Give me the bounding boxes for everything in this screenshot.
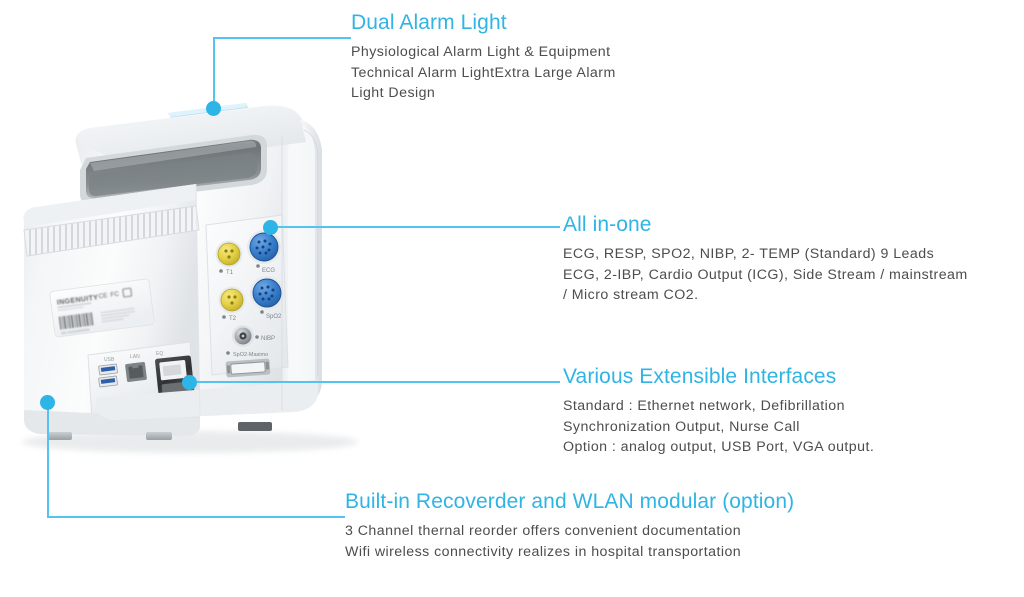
- callout-body-line: ECG, 2-IBP, Cardio Output (ICG), Side St…: [563, 265, 968, 286]
- callout-body-line: / Micro stream CO2.: [563, 285, 968, 306]
- svg-text:SpO2: SpO2: [266, 314, 282, 320]
- leader-line-interfaces: [189, 381, 560, 383]
- foot-left: [48, 432, 72, 440]
- callout-body-various-extensible-interfaces: Standard : Ethernet network, Defibrillat…: [563, 396, 874, 458]
- connector-panel: T1 ECG: [206, 215, 288, 378]
- callout-body-built-in-recorder-wlan: 3 Channel thernal reorder offers conveni…: [345, 521, 794, 562]
- svg-text:LAN: LAN: [130, 354, 140, 360]
- svg-text:EQ: EQ: [156, 351, 163, 357]
- port-ethernet: [125, 362, 147, 382]
- svg-text:T1: T1: [226, 270, 234, 276]
- callout-body-line: Physiological Alarm Light & Equipment: [351, 42, 616, 63]
- callout-body-line: 3 Channel thernal reorder offers conveni…: [345, 521, 794, 542]
- callout-body-line: Standard : Ethernet network, Defibrillat…: [563, 396, 874, 417]
- svg-text:FC: FC: [110, 291, 120, 299]
- leader-dot-wlan: [40, 395, 55, 410]
- svg-text:NIBP: NIBP: [261, 336, 275, 342]
- svg-text:CE: CE: [98, 292, 109, 300]
- leader-dot-alarm: [206, 101, 221, 116]
- feature-callout-page: INGENUITY CE FC: [0, 0, 1024, 597]
- callout-body-line: ECG, RESP, SPO2, NIBP, 2- TEMP (Standard…: [563, 244, 968, 265]
- callout-title-various-extensible-interfaces: Various Extensible Interfaces: [563, 364, 874, 389]
- callout-body-all-in-one: ECG, RESP, SPO2, NIBP, 2- TEMP (Standard…: [563, 244, 968, 306]
- callout-body-line: Option : analog output, USB Port, VGA ou…: [563, 437, 874, 458]
- port-temp1: [216, 241, 243, 268]
- svg-text:SpO2-Masimo: SpO2-Masimo: [233, 352, 268, 358]
- callout-body-line: Technical Alarm LightExtra Large Alarm: [351, 63, 616, 84]
- port-ecg: [247, 230, 281, 264]
- port-dsub-masimo: [225, 358, 270, 377]
- svg-text:ECG: ECG: [262, 268, 275, 274]
- leader-line-wlan-vertical: [47, 402, 49, 517]
- leader-line-alarm-vertical: [213, 38, 215, 110]
- leader-dot-allinone: [263, 220, 278, 235]
- svg-text:T2: T2: [229, 316, 237, 322]
- callout-body-line: Light Design: [351, 83, 616, 104]
- callout-body-dual-alarm-light: Physiological Alarm Light & Equipment Te…: [351, 42, 616, 104]
- callout-body-line: Synchronization Output, Nurse Call: [563, 417, 874, 438]
- foot-mid: [146, 432, 172, 440]
- foot-right: [238, 422, 272, 431]
- leader-line-alarm-horizontal: [213, 37, 351, 39]
- leader-dot-interfaces: [182, 375, 197, 390]
- callout-title-dual-alarm-light: Dual Alarm Light: [351, 10, 616, 35]
- callout-dual-alarm-light: Dual Alarm Light Physiological Alarm Lig…: [351, 10, 616, 104]
- callout-all-in-one: All in-one ECG, RESP, SPO2, NIBP, 2- TEM…: [563, 212, 968, 306]
- leader-line-wlan-horizontal: [47, 516, 345, 518]
- port-spo2: [250, 276, 284, 310]
- callout-built-in-recorder-wlan: Built-in Recoverder and WLAN modular (op…: [345, 489, 794, 562]
- callout-body-line: Wifi wireless connectivity realizes in h…: [345, 542, 794, 563]
- port-nibp: [232, 325, 254, 347]
- callout-various-extensible-interfaces: Various Extensible Interfaces Standard :…: [563, 364, 874, 458]
- leader-line-allinone: [270, 226, 560, 228]
- callout-title-built-in-recorder-wlan: Built-in Recoverder and WLAN modular (op…: [345, 489, 794, 514]
- callout-title-all-in-one: All in-one: [563, 212, 968, 237]
- svg-text:USB: USB: [104, 357, 115, 363]
- patient-monitor-illustration: INGENUITY CE FC: [0, 80, 400, 460]
- port-temp2: [219, 287, 246, 314]
